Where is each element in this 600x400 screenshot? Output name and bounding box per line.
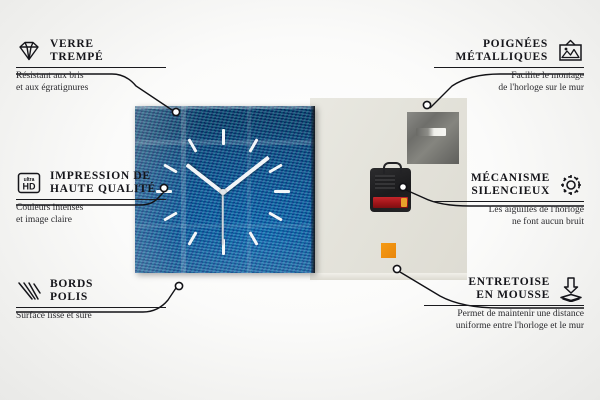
feature-caption-line1: Résistant aux bris <box>16 71 166 83</box>
feature-bords-polis: BORDS POLIS Surface lisse et sûre <box>16 278 166 323</box>
feature-entretoise-en-mousse: ENTRETOISE EN MOUSSE Permet de maintenir… <box>424 276 584 332</box>
feature-poignees-metalliques: POIGNÉES MÉTALLIQUES Facilite le montage… <box>434 38 584 94</box>
infographic-canvas: VERRE TREMPÉ Résistant aux bris et aux é… <box>0 0 600 400</box>
feature-divider <box>424 305 584 306</box>
glass-right-edge <box>311 106 315 273</box>
hanger-loop <box>383 162 402 174</box>
foam-spacer <box>381 243 396 258</box>
feature-caption-line1: Facilite le montage <box>434 71 584 83</box>
feature-title-line1: IMPRESSION DE <box>50 170 156 183</box>
feature-divider <box>434 201 584 202</box>
feature-caption-line1: Les aiguilles de l'horloge <box>434 205 584 217</box>
clock-tick <box>274 190 290 193</box>
polished-edge-icon <box>16 280 42 302</box>
feature-caption-line2: et image claire <box>16 215 166 227</box>
foam-spacer-icon <box>558 276 584 302</box>
feature-divider <box>16 307 166 308</box>
feature-divider <box>434 67 584 68</box>
picture-hanger-icon <box>556 39 584 63</box>
feature-title-line2: MÉTALLIQUES <box>456 51 548 64</box>
feature-divider <box>16 199 166 200</box>
feature-header: POIGNÉES MÉTALLIQUES <box>434 38 584 64</box>
feature-mecanisme-silencieux: MÉCANISME SILENCIEUX Les aiguilles de l'… <box>434 172 584 228</box>
clock-tick <box>222 129 225 145</box>
feature-impression-haute-qualite: ultra HD IMPRESSION DE HAUTE QUALITÉ Cou… <box>16 170 166 226</box>
mechanism-vents <box>375 175 395 189</box>
ultra-hd-icon-big-label: HD <box>23 182 36 192</box>
feature-caption-line1: Couleurs intenses <box>16 203 166 215</box>
feature-title-line1: POIGNÉES <box>456 38 548 51</box>
clock-hand-second <box>222 193 224 245</box>
feature-title-line2: TREMPÉ <box>50 51 103 64</box>
feature-title-line1: ENTRETOISE <box>468 276 550 289</box>
diamond-icon <box>16 40 42 62</box>
clock-mechanism <box>370 168 411 212</box>
feature-title-line1: BORDS <box>50 278 93 291</box>
clock-center-hub <box>220 189 226 195</box>
connector-node-bords-polis <box>175 282 182 289</box>
ultra-hd-icon: ultra HD <box>16 171 42 195</box>
feature-title-line1: MÉCANISME <box>471 172 550 185</box>
product-image <box>135 98 467 283</box>
feature-title-line2: POLIS <box>50 291 93 304</box>
battery <box>373 197 408 208</box>
feature-caption-line2: de l'horloge sur le mur <box>434 83 584 95</box>
feature-caption-line2: et aux égratignures <box>16 83 166 95</box>
feature-header: MÉCANISME SILENCIEUX <box>434 172 584 198</box>
feature-caption-line1: Surface lisse et sûre <box>16 311 166 323</box>
feature-caption-line2: ne font aucun bruit <box>434 217 584 229</box>
feature-title-line1: VERRE <box>50 38 103 51</box>
feature-header: VERRE TREMPÉ <box>16 38 166 64</box>
feature-caption-line1: Permet de maintenir une distance <box>424 309 584 321</box>
feature-caption-line2: uniforme entre l'horloge et le mur <box>424 321 584 333</box>
metal-hanger-plate <box>407 112 459 164</box>
gear-icon <box>558 172 584 198</box>
feature-title-line2: HAUTE QUALITÉ <box>50 183 156 196</box>
feature-header: BORDS POLIS <box>16 278 166 304</box>
feature-divider <box>16 67 166 68</box>
feature-header: ENTRETOISE EN MOUSSE <box>424 276 584 302</box>
feature-title-line2: EN MOUSSE <box>468 289 550 302</box>
feature-header: ultra HD IMPRESSION DE HAUTE QUALITÉ <box>16 170 166 196</box>
feature-title-line2: SILENCIEUX <box>471 185 550 198</box>
feature-verre-trempe: VERRE TREMPÉ Résistant aux bris et aux é… <box>16 38 166 94</box>
